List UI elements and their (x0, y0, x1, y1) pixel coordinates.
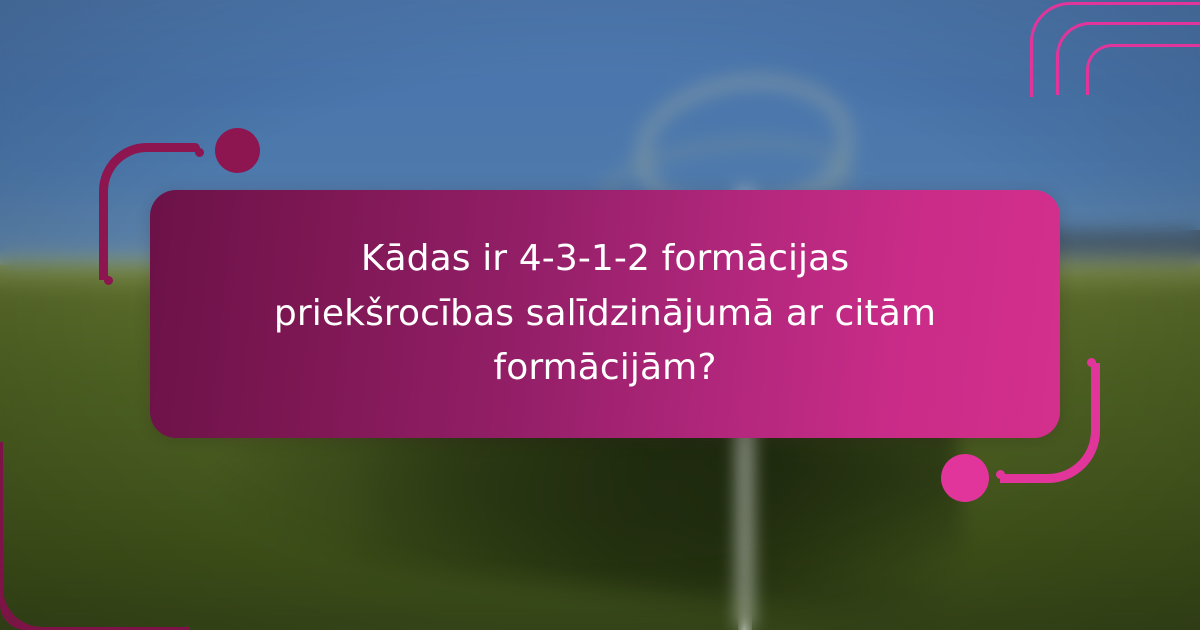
headline-text: Kādas ir 4-3-1-2 formācijas priekšrocība… (211, 232, 999, 396)
headline-card: Kādas ir 4-3-1-2 formācijas priekšrocība… (150, 190, 1060, 438)
social-card-canvas: Kādas ir 4-3-1-2 formācijas priekšrocība… (0, 0, 1200, 630)
